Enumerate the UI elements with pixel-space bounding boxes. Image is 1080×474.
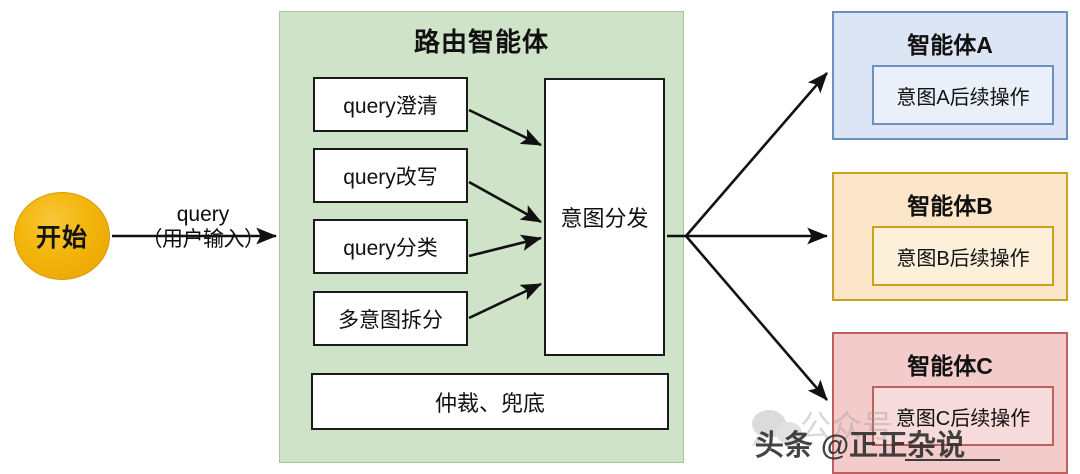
- arbitration-fallback-box[interactable]: 仲裁、兜底: [311, 373, 669, 430]
- agent-c-title: 智能体C: [834, 347, 1066, 381]
- process-box-label: query改写: [343, 161, 438, 191]
- arrow-branch-to-agent-c: [686, 236, 827, 400]
- query-edge-label: query （用户输入）: [128, 203, 278, 253]
- process-box-label: 多意图拆分: [338, 304, 443, 334]
- router-agent-title: 路由智能体: [279, 22, 684, 59]
- process-box-multi-intent-split[interactable]: 多意图拆分: [313, 291, 468, 346]
- wechat-icon: [752, 410, 802, 451]
- start-node-label: 开始: [36, 218, 88, 254]
- agent-b-action-label: 意图B后续操作: [896, 242, 1029, 271]
- agent-card-c[interactable]: 智能体C 意图C后续操作: [832, 332, 1068, 474]
- agent-b-title: 智能体B: [834, 187, 1066, 221]
- agent-a-action-box[interactable]: 意图A后续操作: [872, 65, 1054, 125]
- agent-c-action-box[interactable]: 意图C后续操作: [872, 386, 1054, 446]
- start-node[interactable]: 开始: [14, 192, 110, 280]
- query-edge-label-line1: query: [128, 203, 278, 228]
- agent-card-a[interactable]: 智能体A 意图A后续操作: [832, 11, 1068, 140]
- process-box-query-rewrite[interactable]: query改写: [313, 148, 468, 203]
- process-box-label: query澄清: [343, 90, 438, 120]
- agent-a-title: 智能体A: [834, 26, 1066, 60]
- query-edge-label-line2: （用户输入）: [128, 228, 278, 253]
- arrow-branch-to-agent-a: [686, 73, 827, 236]
- process-box-query-classify[interactable]: query分类: [313, 219, 468, 274]
- diagram-canvas: 路由智能体 开始 query （用户输入） query澄清 query改写 qu…: [0, 0, 1080, 474]
- intent-dispatch-label: 意图分发: [560, 201, 648, 233]
- agent-a-action-label: 意图A后续操作: [896, 81, 1029, 110]
- arbitration-fallback-label: 仲裁、兜底: [435, 386, 545, 418]
- process-box-label: query分类: [343, 232, 438, 262]
- agent-b-action-box[interactable]: 意图B后续操作: [872, 226, 1054, 286]
- intent-dispatch-box[interactable]: 意图分发: [544, 78, 665, 356]
- agent-c-action-label: 意图C后续操作: [896, 402, 1030, 431]
- process-box-query-clarify[interactable]: query澄清: [313, 77, 468, 132]
- agent-card-b[interactable]: 智能体B 意图B后续操作: [832, 172, 1068, 301]
